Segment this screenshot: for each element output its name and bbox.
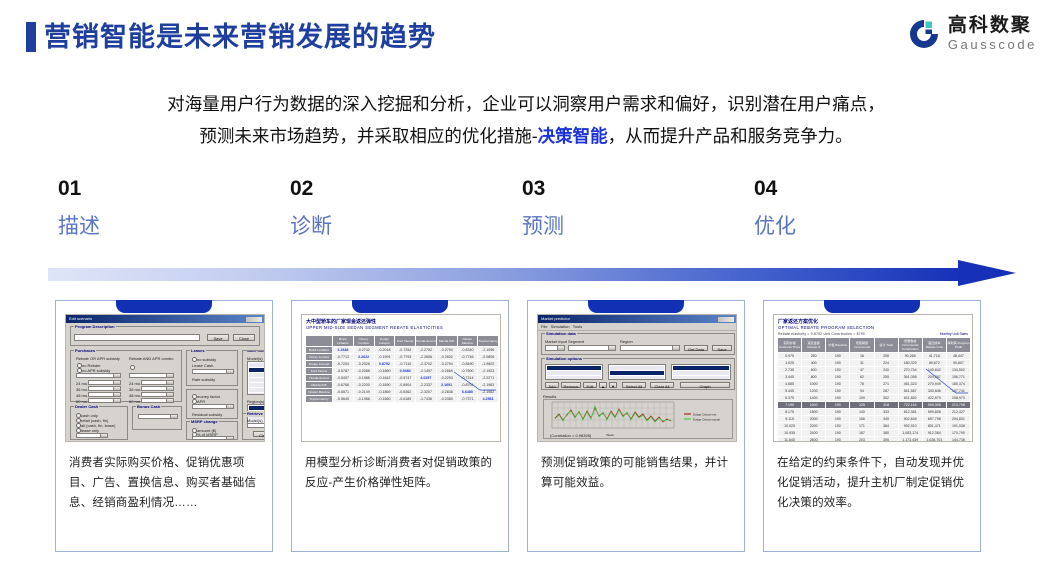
- group-title: Purchases: [74, 348, 96, 354]
- list-item: [249, 363, 265, 367]
- table-row: 10.0252200190171364992,910801,471191,038: [778, 423, 971, 430]
- optim-cell: 224: [874, 360, 898, 367]
- optim-cell: 2200: [802, 423, 826, 430]
- step-01-number: 01: [58, 176, 100, 202]
- optim-cell: 9.115: [778, 416, 802, 423]
- models-list[interactable]: [247, 361, 265, 395]
- optim-cell: 170,790: [946, 430, 970, 437]
- optim-cell: 1000: [802, 381, 826, 388]
- logo-name-cn: 高科数聚: [948, 16, 1037, 35]
- matrix-cell: -2.3207: [416, 389, 437, 396]
- page-title: 营销智能是未来营销发展的趋势: [44, 18, 436, 56]
- table-row: 9.1152000190156349902,645697,798204,801: [778, 416, 971, 423]
- list-item: [547, 376, 601, 380]
- matrix-title-cn: 大中型轿车的厂家现金返还弹性: [306, 318, 376, 325]
- term-48b-select[interactable]: [141, 392, 174, 397]
- matrix-cell: 0.9480: [395, 368, 416, 375]
- window-titlebar: Market predictor: [538, 315, 736, 323]
- save-button[interactable]: Save: [712, 345, 732, 351]
- optim-cell: 271: [874, 381, 898, 388]
- optim-cell: 212,427: [946, 409, 970, 416]
- term-24-select[interactable]: [88, 380, 121, 385]
- clear-all-button[interactable]: Clear All: [650, 382, 674, 388]
- market-input-select[interactable]: [545, 345, 565, 351]
- intro-line-2: 预测未来市场趋势，并采取相应的优化措施-决策智能，从而提升产品和服务竞争力。: [46, 120, 1006, 152]
- optim-cell: 395: [874, 437, 898, 443]
- chart-xlabel: Week: [606, 433, 614, 437]
- optim-col-header: 净利润 Program Profit: [946, 338, 970, 353]
- optim-cell: 5.445: [778, 388, 802, 395]
- no-subsidy-label: no subsidy: [197, 357, 216, 362]
- matrix-col-header: Toyota Camry: [478, 336, 499, 347]
- menu-simulation[interactable]: Simulation: [551, 324, 570, 329]
- optim-cell: 190: [826, 367, 850, 374]
- optim-cell: 78: [850, 381, 874, 388]
- edit-button[interactable]: Edit: [583, 382, 597, 388]
- optim-cell: 812,381: [898, 409, 922, 416]
- dealer-cash-select[interactable]: [76, 433, 108, 438]
- optim-cell: 48,447: [946, 353, 970, 360]
- matrix-cell: -0.2742: [353, 347, 374, 354]
- matrix-annotation-arrow-icon: [452, 370, 498, 400]
- optim-cell: 62: [850, 374, 874, 381]
- card-tab: [588, 300, 684, 313]
- intro-highlight: 决策智能: [538, 126, 608, 146]
- matrix-cell: -0.2028: [353, 361, 374, 368]
- matrix-cell: -1.9602: [478, 361, 499, 368]
- matrix-cell: -2.3702: [416, 361, 437, 368]
- optim-cell: 599,806: [922, 409, 946, 416]
- matrix-cell: -0.6904: [395, 382, 416, 389]
- optim-cell: 255: [874, 374, 898, 381]
- intro-line-1: 对海量用户行为数据的深入挖掘和分析，企业可以洞察用户需求和偏好，识别潜在用户痛点…: [167, 94, 885, 114]
- group-title: Save incentives: [246, 350, 265, 354]
- optim-col-header: 返还成本 Rebate Cost: [922, 338, 946, 353]
- table-row: 0.9752501901620690,26841,71848,447: [778, 353, 971, 360]
- optim-cell: 109: [850, 395, 874, 402]
- card-tab: [352, 300, 448, 313]
- group-title: Simulation options: [545, 356, 583, 362]
- model-list[interactable]: [608, 364, 666, 380]
- optim-cell: 2600: [802, 437, 826, 443]
- optim-cell: 2000: [802, 416, 826, 423]
- matrix-cell: -0.6787: [333, 368, 354, 375]
- list-item: [249, 378, 265, 382]
- card-diagnose[interactable]: 大中型轿车的厂家现金返还弹性 UPPER MID-SIZE SEDAN SEGM…: [291, 300, 509, 552]
- lease-cash-select[interactable]: [192, 369, 234, 374]
- optim-cell: 1,173,439: [898, 437, 922, 443]
- matrix-cell: -2.2337: [416, 382, 437, 389]
- matrix-cell: -0.2200: [353, 382, 374, 389]
- intro-line-2-before: 预测未来市场趋势，并采取相应的优化措施-: [199, 126, 537, 146]
- progress-arrow-head-icon: [958, 260, 1016, 286]
- list-item: [249, 368, 265, 372]
- optim-cell: 125: [850, 402, 874, 409]
- optim-col-header: 返还金额 Rebate $: [802, 338, 826, 353]
- msrp-value-select[interactable]: [192, 436, 234, 440]
- optim-cell: 144,736: [946, 437, 970, 443]
- optim-cell: 180,329: [898, 360, 922, 367]
- term-48-select[interactable]: [88, 392, 121, 397]
- optim-cell: 203: [850, 437, 874, 443]
- matrix-cell: -0.2602: [436, 354, 457, 361]
- matrix-cell: -0.1988: [353, 396, 374, 403]
- step-02-label: 诊断: [290, 212, 332, 242]
- menu-bar[interactable]: File Simulation Tools: [538, 323, 736, 331]
- optim-cell: 171: [850, 423, 874, 430]
- matrix-row-header: Ford Taurus: [306, 368, 333, 375]
- list-item: [610, 371, 664, 375]
- optim-cell: 7.195: [778, 402, 802, 409]
- matrix-col-header: Mazda 626: [436, 336, 457, 347]
- term-48b-label: 48 mo.: [129, 393, 141, 398]
- step-labels: 01 描述 02 诊断 03 预测 04 优化: [46, 176, 1026, 248]
- table-row: 11.84526001902033951,173,4391,028,703144…: [778, 437, 971, 443]
- optim-cell: 801,471: [922, 423, 946, 430]
- card-describe[interactable]: Edit scenario Program Description Save C…: [55, 300, 273, 552]
- optim-cell: 333: [874, 409, 898, 416]
- matrix-cell: -0.1869: [374, 389, 395, 396]
- optim-subtitle-left: Rebate elasticity = 0.8752 Unit Contribu…: [778, 332, 865, 336]
- card-optimize[interactable]: 厂家返还方案优化 OPTIMAL REBATE PROGRAM SELECTIO…: [763, 300, 981, 552]
- optim-cell: 187: [850, 430, 874, 437]
- group-simulation-data: Simulation data Market input Segment Reg…: [541, 333, 735, 355]
- term-36b-select[interactable]: [141, 386, 174, 391]
- logo-text: 高科数聚 Gausscode: [948, 16, 1037, 51]
- optim-cell: 31: [850, 360, 874, 367]
- matrix-col-header: Dodge Intrepid: [374, 336, 395, 347]
- list-item: [610, 376, 664, 380]
- optim-cell: 190: [826, 430, 850, 437]
- results-chart: Week Dodge Celcote est. Dodge Celcote ac…: [543, 399, 733, 439]
- optim-cell: 0.975: [778, 353, 802, 360]
- purchase-col1-label: Rebate OR APR subsidy: [76, 356, 120, 361]
- optim-cell: 364: [874, 423, 898, 430]
- table-row: Chevy Lumina-0.77132.2622-0.1991-0.7793-…: [306, 354, 499, 361]
- select-all-button[interactable]: Select All: [622, 382, 646, 388]
- optim-cell: 1.025: [778, 360, 802, 367]
- list-item: [547, 366, 601, 370]
- optimization-table-screenshot: 厂家返还方案优化 OPTIMAL REBATE PROGRAM SELECTIO…: [773, 314, 973, 442]
- group-leases: Leases no subsidy Lease Cash Rate subsid…: [186, 350, 238, 386]
- matrix-cell: -0.2018: [374, 347, 395, 354]
- matrix-cell: -2.0808: [478, 354, 499, 361]
- matrix-cell: -0.7204: [333, 361, 354, 368]
- optim-cell: 204,801: [946, 416, 970, 423]
- matrix-cell: 1.1548: [333, 347, 354, 354]
- optim-col-header: 增量收益 Incremental Contribution: [898, 338, 922, 353]
- optim-col-header: 总计 Total: [874, 338, 898, 353]
- optim-cell: 1800: [802, 409, 826, 416]
- table-row: 1.02540019031224180,32989,67290,807: [778, 360, 971, 367]
- optim-cell: 16: [850, 353, 874, 360]
- optim-cell: 190: [826, 416, 850, 423]
- optim-cell: 94: [850, 388, 874, 395]
- matrix-title-en: UPPER MID-SIZE SEDAN SEGMENT REBATE ELAS…: [306, 325, 443, 330]
- purchase-combo-select[interactable]: [129, 373, 174, 378]
- matrix-col-header: Chevy Lumina: [353, 336, 374, 347]
- optim-cell: 361,058: [898, 374, 922, 381]
- optim-cell: 190: [826, 374, 850, 381]
- menu-file[interactable]: File: [541, 324, 547, 329]
- card-caption: 预测促销政策的可能销售结果，并计算可能效益。: [541, 453, 733, 493]
- optim-cell: 250: [802, 353, 826, 360]
- optim-cell: 302: [874, 395, 898, 402]
- term-24b-label: 24 mo.: [129, 381, 141, 386]
- term-24b-select[interactable]: [141, 380, 174, 385]
- table-row: 7.1951600190125318722,116509,308213,708: [778, 402, 971, 409]
- rate-subsidy-label: Rate subsidy: [192, 377, 215, 382]
- list-item: [673, 376, 729, 380]
- brand-logo: 高科数聚 Gausscode: [907, 16, 1037, 51]
- remove-button[interactable]: Remove: [561, 382, 581, 388]
- matrix-cell: -0.5497: [333, 375, 354, 382]
- optim-subtitle-right: Monthly Unit Sales: [940, 332, 968, 336]
- window-title: Market predictor: [541, 315, 570, 323]
- menu-tools[interactable]: Tools: [573, 324, 582, 329]
- optim-cell: 140: [850, 409, 874, 416]
- matrix-row-header: Dodge Intrepid: [306, 361, 333, 368]
- step-04-number: 04: [754, 176, 796, 202]
- group-title: Bonus Cash: [136, 404, 161, 410]
- optim-cell: 10.025: [778, 423, 802, 430]
- optim-cell: 47: [850, 367, 874, 374]
- region-label: Region: [620, 339, 633, 344]
- table-row: Buick LeSabre1.1548-0.2742-0.2018-0.7254…: [306, 347, 499, 354]
- optim-cell: 206: [874, 353, 898, 360]
- segment-select[interactable]: [568, 345, 616, 351]
- matrix-cell: -2.2752: [416, 347, 437, 354]
- optim-cell: 1,083,174: [898, 430, 922, 437]
- matrix-cell: -0.1890: [374, 382, 395, 389]
- optim-cell: 509,308: [922, 402, 946, 409]
- list-item: [673, 371, 729, 375]
- matrix-cell: -0.7793: [395, 354, 416, 361]
- optim-cell: 270,754: [898, 367, 922, 374]
- optim-cell: 190: [826, 395, 850, 402]
- term-36-select[interactable]: [88, 386, 121, 391]
- graph-button[interactable]: Graph: [680, 382, 730, 388]
- progress-arrow-body: [48, 268, 964, 281]
- group-title: Simulation data: [545, 331, 577, 337]
- segment-label: Segment: [568, 339, 584, 344]
- matrix-row-header: Mazda 626: [306, 382, 333, 389]
- optim-cell: 213,708: [946, 402, 970, 409]
- term-60-select[interactable]: [88, 398, 121, 403]
- optim-cell: 191,038: [946, 423, 970, 430]
- optim-annotation-arrow-icon: [922, 367, 970, 401]
- matrix-cell: -0.5747: [395, 375, 416, 382]
- matrix-cell: -0.1660: [374, 396, 395, 403]
- gausscode-logo-icon: [907, 17, 941, 51]
- step-04: 04 优化: [754, 176, 796, 242]
- step-01: 01 描述: [58, 176, 100, 242]
- matrix-cell: -2.1096: [478, 347, 499, 354]
- matrix-cell: -0.6766: [333, 382, 354, 389]
- optim-cell: 800: [802, 374, 826, 381]
- matrix-row-header: Nissan Maxima: [306, 389, 333, 396]
- matrix-col-header: Nissan Maxima: [457, 336, 478, 347]
- list-item: [610, 366, 664, 370]
- optim-title-en: OPTIMAL REBATE PROGRAM SELECTION: [778, 325, 874, 330]
- matrix-col-header: Ford Taurus: [395, 336, 416, 347]
- optim-cell: 190: [826, 360, 850, 367]
- group-retrieve-incentives: Retrieve incentives Model(s) Region(s) C…: [242, 413, 265, 440]
- residual-label: Residual subsidy: [192, 412, 222, 417]
- intro-line-2-after: ，从而提升产品和服务竞争力。: [608, 126, 853, 146]
- optim-cell: 89,672: [922, 360, 946, 367]
- group-purchases: Purchases Rebate OR APR subsidy Rebate A…: [70, 350, 182, 402]
- window-controls: [718, 317, 734, 322]
- optim-cell: 190: [826, 353, 850, 360]
- step-01-label: 描述: [58, 212, 100, 242]
- list-item: [249, 393, 265, 395]
- optim-cell: 992,910: [898, 423, 922, 430]
- matrix-cell: -0.1860: [374, 368, 395, 375]
- legend-actual: Dodge Celcote actual: [693, 418, 720, 422]
- step-04-label: 优化: [754, 212, 796, 242]
- close-button[interactable]: Close: [233, 334, 255, 341]
- optim-cell: 380: [874, 430, 898, 437]
- matrix-cell: -0.2794: [436, 361, 457, 368]
- optim-cell: 190: [826, 409, 850, 416]
- optim-cell: 631,852: [898, 395, 922, 402]
- matrix-row-header: Buick LeSabre: [306, 347, 333, 354]
- window-controls: [246, 317, 262, 322]
- output-list[interactable]: [671, 364, 731, 380]
- group-program-description: Program Description Save Close: [70, 326, 260, 346]
- group-title: Dealer Cash: [74, 404, 99, 410]
- optim-cell: 349: [874, 416, 898, 423]
- card-predict[interactable]: Market predictor File Simulation Tools S…: [527, 300, 745, 552]
- purchase-value-select[interactable]: [76, 373, 121, 378]
- optim-cell: 287: [874, 388, 898, 395]
- card-tab: [824, 300, 920, 313]
- window-title: Edit scenario: [69, 315, 92, 323]
- step-03-label: 预测: [522, 212, 564, 242]
- retrieve-model-select[interactable]: [247, 423, 265, 428]
- list-item: [673, 366, 729, 370]
- clear-button[interactable]: Clear: [253, 431, 265, 437]
- term-24-label: 24 mo.: [76, 381, 88, 386]
- term-60b-select[interactable]: [141, 398, 174, 403]
- optim-cell: 1200: [802, 388, 826, 395]
- step-03-number: 03: [522, 176, 564, 202]
- move-down-icon[interactable]: ▼: [609, 382, 617, 388]
- bonus-cash-select[interactable]: [138, 414, 178, 419]
- matrix-row-header: Chevy Lumina: [306, 354, 333, 361]
- matrix-cell: -0.1642: [374, 375, 395, 382]
- table-row: 10.93524001901873801,083,174912,384170,7…: [778, 430, 971, 437]
- optim-cell: 400: [802, 360, 826, 367]
- matrix-cell: -2.1497: [416, 368, 437, 375]
- matrix-row-header: Honda Accord: [306, 375, 333, 382]
- optim-cell: 41,718: [922, 353, 946, 360]
- matrix-cell: -0.8490: [457, 361, 478, 368]
- all-offered-radio[interactable]: [130, 365, 135, 370]
- optim-cell: 912,384: [922, 430, 946, 437]
- scenario-list[interactable]: [545, 364, 603, 380]
- optim-cell: 90,268: [898, 353, 922, 360]
- matrix-cell: -0.2794: [436, 347, 457, 354]
- group-title: Program Description: [74, 324, 116, 330]
- matrix-col-header: Honda Accord: [416, 336, 437, 347]
- optim-cell: 2400: [802, 430, 826, 437]
- card-caption: 用模型分析诊断消费者对促销政策的反应-产生价格弹性矩阵。: [305, 453, 497, 493]
- matrix-col-header: Buick LeSabre: [333, 336, 354, 347]
- matrix-row-header: Toyota Camry: [306, 396, 333, 403]
- matrix-cell: 0.8752: [374, 361, 395, 368]
- matrix-cell: -0.6362: [395, 389, 416, 396]
- matrix-cell: -0.1986: [353, 375, 374, 382]
- term-36b-label: 36 mo.: [129, 387, 141, 392]
- group-dealer-cash: Dealer Cash cash only retail (cash, fin)…: [70, 406, 128, 440]
- card-tab: [116, 300, 212, 313]
- optim-cell: 902,645: [898, 416, 922, 423]
- optim-cell: 3.445: [778, 374, 802, 381]
- list-item: [249, 373, 265, 377]
- market-input-label: Market input: [545, 339, 567, 344]
- matrix-cell: -0.6189: [395, 396, 416, 403]
- step-03: 03 预测: [522, 176, 564, 242]
- title-accent-bar: [26, 22, 36, 52]
- list-item: [249, 388, 265, 392]
- progress-arrow: [48, 262, 1018, 288]
- intro-paragraph: 对海量用户行为数据的深入挖掘和分析，企业可以洞察用户需求和偏好，识别潜在用户痛点…: [46, 88, 1006, 152]
- legend-estimated: Dodge Celcote est.: [693, 413, 717, 417]
- optim-cell: 90,807: [946, 360, 970, 367]
- matrix-cell: -0.7746: [457, 354, 478, 361]
- group-msrp-change: MSRP change amount ($) % of MSRP: [186, 421, 238, 440]
- optim-cell: 6.375: [778, 395, 802, 402]
- rate-value-select[interactable]: [192, 404, 234, 409]
- matrix-cell: 4.0257: [416, 375, 437, 382]
- window-titlebar: Edit scenario: [66, 315, 264, 323]
- optim-cell: 600: [802, 367, 826, 374]
- optim-cell: 8.175: [778, 409, 802, 416]
- optim-cell: 1400: [802, 395, 826, 402]
- optim-cell: 190: [826, 437, 850, 443]
- step-02-number: 02: [290, 176, 332, 202]
- optim-cell: 541,587: [898, 388, 922, 395]
- move-up-icon[interactable]: ▲: [599, 382, 607, 388]
- group-title: Retrieve incentives: [246, 411, 265, 417]
- optim-cell: 190: [826, 423, 850, 430]
- card-caption: 消费者实际购买价格、促销优惠项目、广告、置换信息、购买者基础信息、经销商盈利情况…: [69, 453, 261, 513]
- optim-col-header: 增量销量 Incremental: [850, 338, 874, 353]
- dialog-screenshot: Edit scenario Program Description Save C…: [65, 314, 265, 442]
- get-data-button[interactable]: Get Data: [684, 345, 708, 351]
- card-caption: 在给定的约束条件下，自动发现并优化促销活动，提升主机厂制定促销优化决策的效率。: [777, 453, 969, 513]
- logo-name-en: Gausscode: [948, 38, 1037, 51]
- optim-cell: 4.685: [778, 381, 802, 388]
- save-button[interactable]: Save: [207, 334, 229, 341]
- term-36-label: 36 mo.: [76, 387, 88, 392]
- group-simulation-options: Simulation options Add Remove Edit ▲ ▼: [541, 358, 735, 390]
- group-title: MSRP change: [190, 419, 219, 425]
- matrix-cell: -0.1991: [374, 354, 395, 361]
- simulation-screenshot: Market predictor File Simulation Tools S…: [537, 314, 737, 442]
- table-row: 8.1751800190140333812,381599,806212,427: [778, 409, 971, 416]
- region-select[interactable]: [620, 345, 680, 351]
- add-button[interactable]: Add: [545, 382, 559, 388]
- matrix-cell: -0.8340: [457, 347, 478, 354]
- optim-cell: 156: [850, 416, 874, 423]
- elasticity-matrix-screenshot: 大中型轿车的厂家现金返还弹性 UPPER MID-SIZE SEDAN SEGM…: [301, 314, 501, 442]
- optim-cell: 190: [826, 381, 850, 388]
- program-description-input[interactable]: [74, 334, 200, 341]
- optim-cell: 451,323: [898, 381, 922, 388]
